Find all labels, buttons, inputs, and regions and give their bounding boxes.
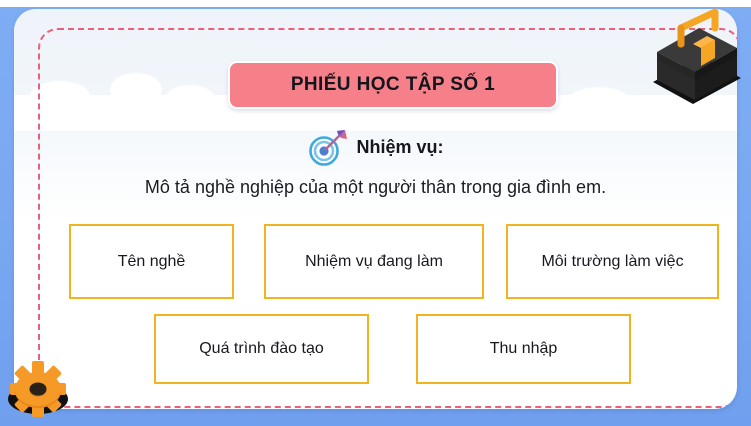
box-label: Nhiệm vụ đang làm (305, 253, 443, 271)
box-label: Quá trình đào tạo (199, 340, 324, 358)
mission-heading-row: Nhiệm vụ: (14, 127, 737, 167)
worksheet-box-qua-trinh-dao-tao[interactable]: Quá trình đào tạo (154, 314, 369, 384)
mission-label: Nhiệm vụ: (356, 137, 443, 158)
worksheet-box-ten-nghe[interactable]: Tên nghề (69, 224, 234, 299)
worksheet-title-banner: PHIẾU HỌC TẬP SỐ 1 (228, 61, 558, 109)
cloud-shape-2 (110, 73, 162, 107)
worksheet-slide: PHIẾU HỌC TẬP SỐ 1 Nhiệm vụ: Mô tả nghề … (0, 0, 751, 426)
worksheet-card: PHIẾU HỌC TẬP SỐ 1 Nhiệm vụ: Mô tả nghề … (14, 9, 737, 409)
box-label: Tên nghề (118, 253, 186, 271)
target-dart-icon (307, 127, 349, 167)
top-white-strip (0, 0, 751, 7)
page-title: PHIẾU HỌC TẬP SỐ 1 (291, 74, 495, 96)
gear-icon (2, 355, 74, 421)
cloud-shape-7 (570, 87, 628, 111)
worksheet-box-thu-nhap[interactable]: Thu nhập (416, 314, 631, 384)
cloud-shape-3 (166, 85, 214, 111)
cloud-shape-1 (30, 81, 90, 111)
box-label: Môi trường làm việc (541, 253, 683, 271)
box-label: Thu nhập (490, 340, 558, 358)
toolbox-icon (641, 8, 749, 112)
worksheet-box-moi-truong-lam-viec[interactable]: Môi trường làm việc (506, 224, 719, 299)
worksheet-box-nhiem-vu-dang-lam[interactable]: Nhiệm vụ đang làm (264, 224, 484, 299)
worksheet-description: Mô tả nghề nghiệp của một người thân tro… (14, 177, 737, 198)
